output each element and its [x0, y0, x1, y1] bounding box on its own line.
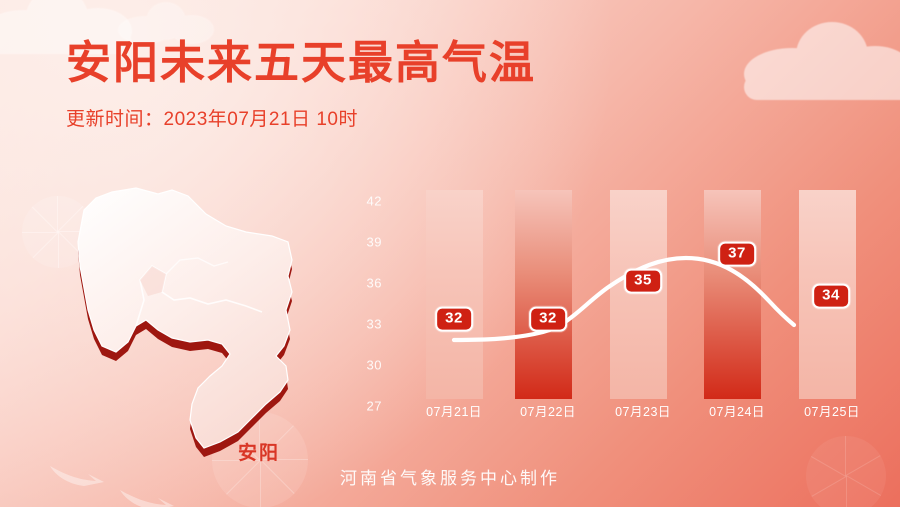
update-time-text: 更新时间：2023年07月21日 10时	[66, 104, 358, 131]
y-tick-0: 27	[352, 399, 382, 414]
x-label-0: 07月21日	[404, 401, 504, 420]
bird-icon	[118, 486, 178, 507]
chart-y-axis: 27 30 33 36 39 42	[352, 180, 382, 410]
page-title: 安阳未来五天最高气温	[66, 40, 536, 85]
cloud-icon	[744, 22, 900, 100]
map-region-label: 安阳	[238, 438, 280, 465]
x-label-1: 07月22日	[498, 401, 598, 420]
x-label-2: 07月23日	[593, 401, 693, 420]
infographic-canvas: 安阳未来五天最高气温 更新时间：2023年07月21日 10时 安阳	[0, 0, 900, 507]
y-tick-5: 42	[352, 194, 382, 209]
y-tick-3: 36	[352, 276, 382, 291]
value-badge-2: 35	[624, 269, 662, 294]
chart-plot-area: 32 32 35 37 34 07月21日 07月22日 07月23日 07月2…	[390, 180, 852, 420]
footer-credit: 河南省气象服务中心制作	[0, 464, 900, 489]
temperature-chart: 27 30 33 36 39 42 32 32 35 37 34	[352, 180, 852, 420]
value-badge-1: 32	[529, 307, 567, 332]
value-badge-4: 34	[812, 284, 850, 309]
y-tick-4: 39	[352, 235, 382, 250]
y-tick-1: 30	[352, 358, 382, 373]
anyang-map: 安阳	[40, 180, 330, 470]
y-tick-2: 33	[352, 317, 382, 332]
temperature-line	[390, 180, 852, 420]
anyang-prefecture-map-icon	[40, 180, 330, 470]
value-badge-0: 32	[435, 307, 473, 332]
value-badge-3: 37	[718, 242, 756, 267]
x-label-3: 07月24日	[687, 401, 787, 420]
x-label-4: 07月25日	[782, 401, 882, 420]
